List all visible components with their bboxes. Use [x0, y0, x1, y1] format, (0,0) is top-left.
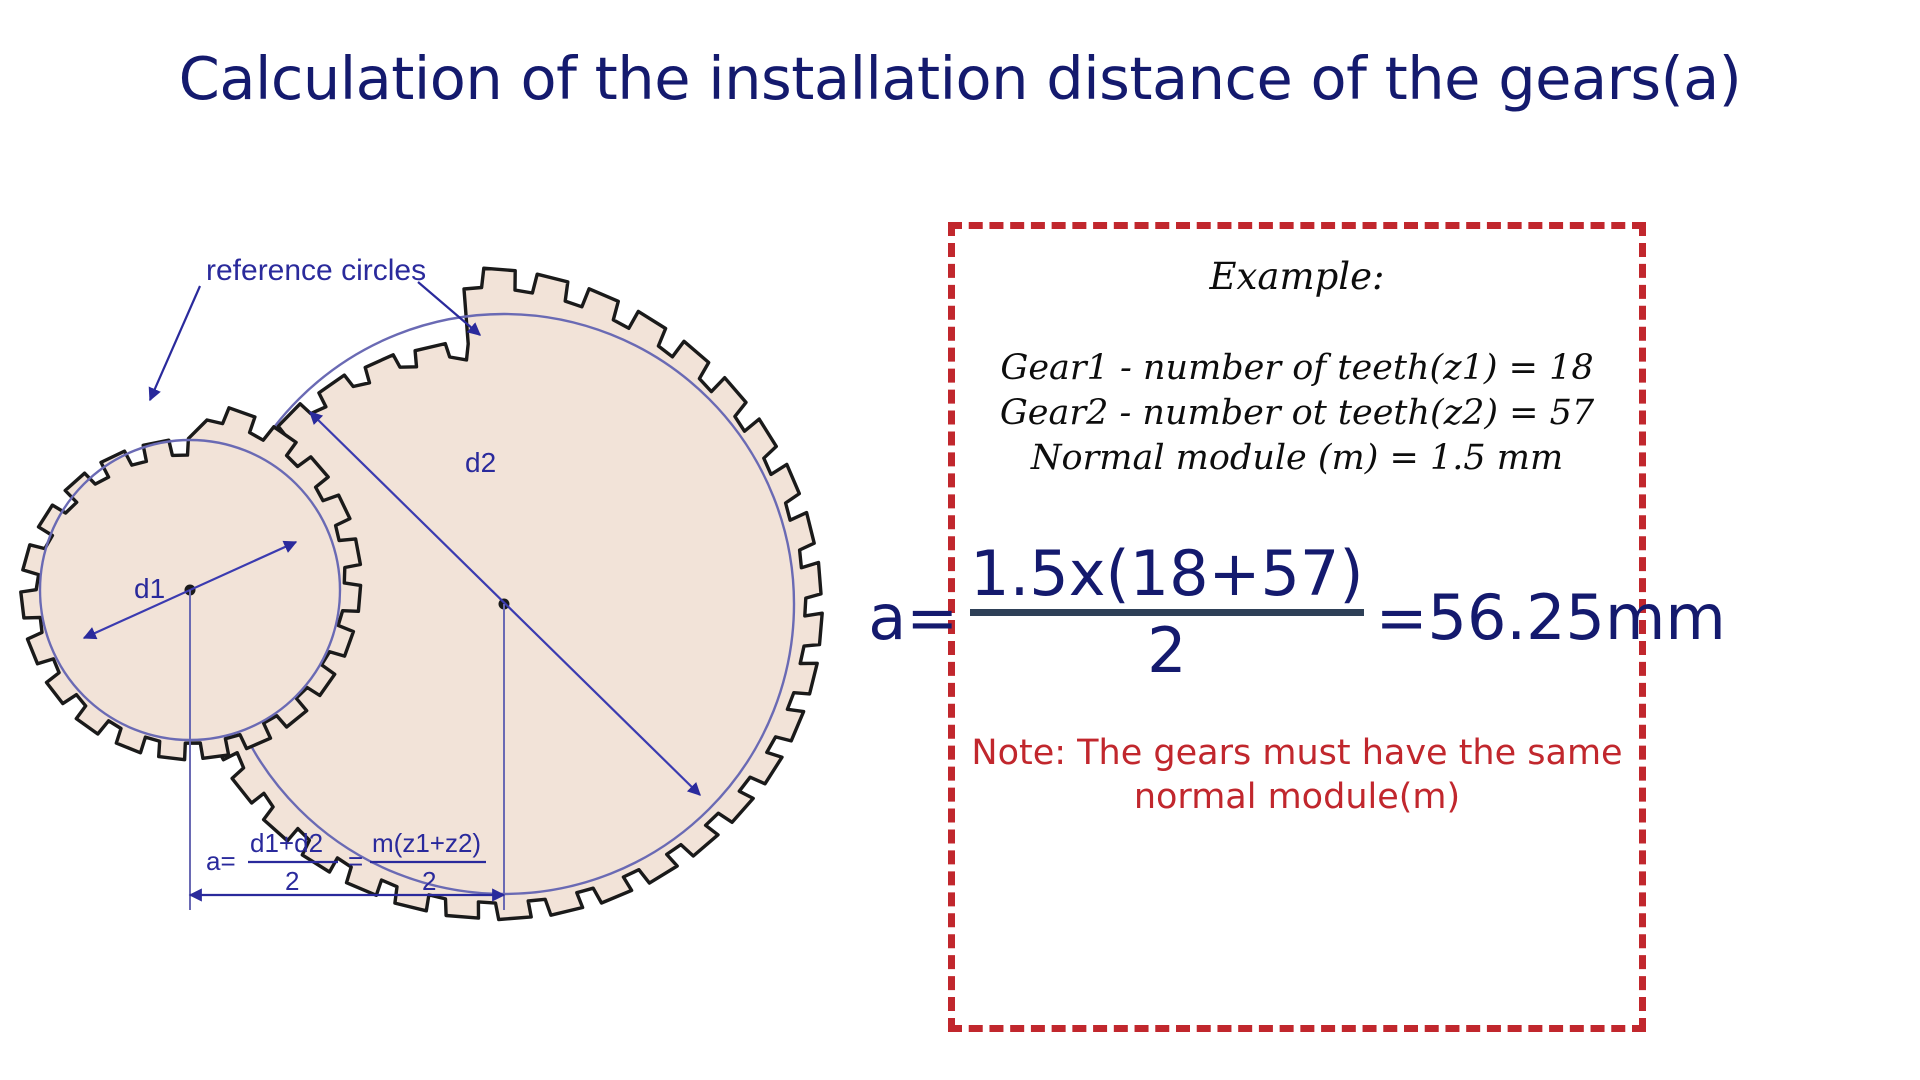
note-line-1: Note: The gears must have the same — [955, 731, 1639, 775]
leader-line-gear1 — [150, 286, 200, 400]
formula-d1d2-numerator: d1+d2 — [250, 828, 323, 858]
formula-lhs-a: a= — [206, 846, 236, 876]
formula-mz-denominator: 2 — [422, 866, 436, 896]
example-heading: Example: — [955, 255, 1639, 298]
calc-fraction: 1.5x(18+57) 2 — [970, 542, 1363, 684]
label-d2: d2 — [465, 447, 496, 478]
formula-mz-numerator: m(z1+z2) — [372, 828, 481, 858]
formula-d1d2-denominator: 2 — [285, 866, 299, 896]
gear-diagram: reference circles d1 d2 a= d1+d2 — [10, 190, 890, 1020]
center-distance-calculation: a= 1.5x(18+57) 2 =56.25mm — [955, 542, 1639, 684]
note-line-2: normal module(m) — [955, 775, 1639, 819]
label-reference-circles: reference circles — [206, 254, 426, 287]
panel-note: Note: The gears must have the same norma… — [955, 731, 1639, 819]
page-title: Calculation of the installation distance… — [0, 44, 1920, 113]
spec-line-gear2: Gear2 - number ot teeth(z2) = 57 — [955, 391, 1639, 436]
gear-spec-list: Gear1 - number of teeth(z1) = 18 Gear2 -… — [955, 346, 1639, 480]
spec-line-module: Normal module (m) = 1.5 mm — [955, 436, 1639, 481]
label-d1: d1 — [134, 573, 165, 604]
formula-equals: = — [348, 846, 363, 876]
calc-denominator: 2 — [1147, 618, 1186, 685]
example-panel: Example: Gear1 - number of teeth(z1) = 1… — [948, 222, 1646, 1032]
calc-numerator: 1.5x(18+57) — [970, 542, 1363, 606]
calc-lhs: a= — [868, 587, 970, 649]
spec-line-gear1: Gear1 - number of teeth(z1) = 18 — [955, 346, 1639, 391]
calc-result: =56.25mm — [1364, 587, 1726, 649]
